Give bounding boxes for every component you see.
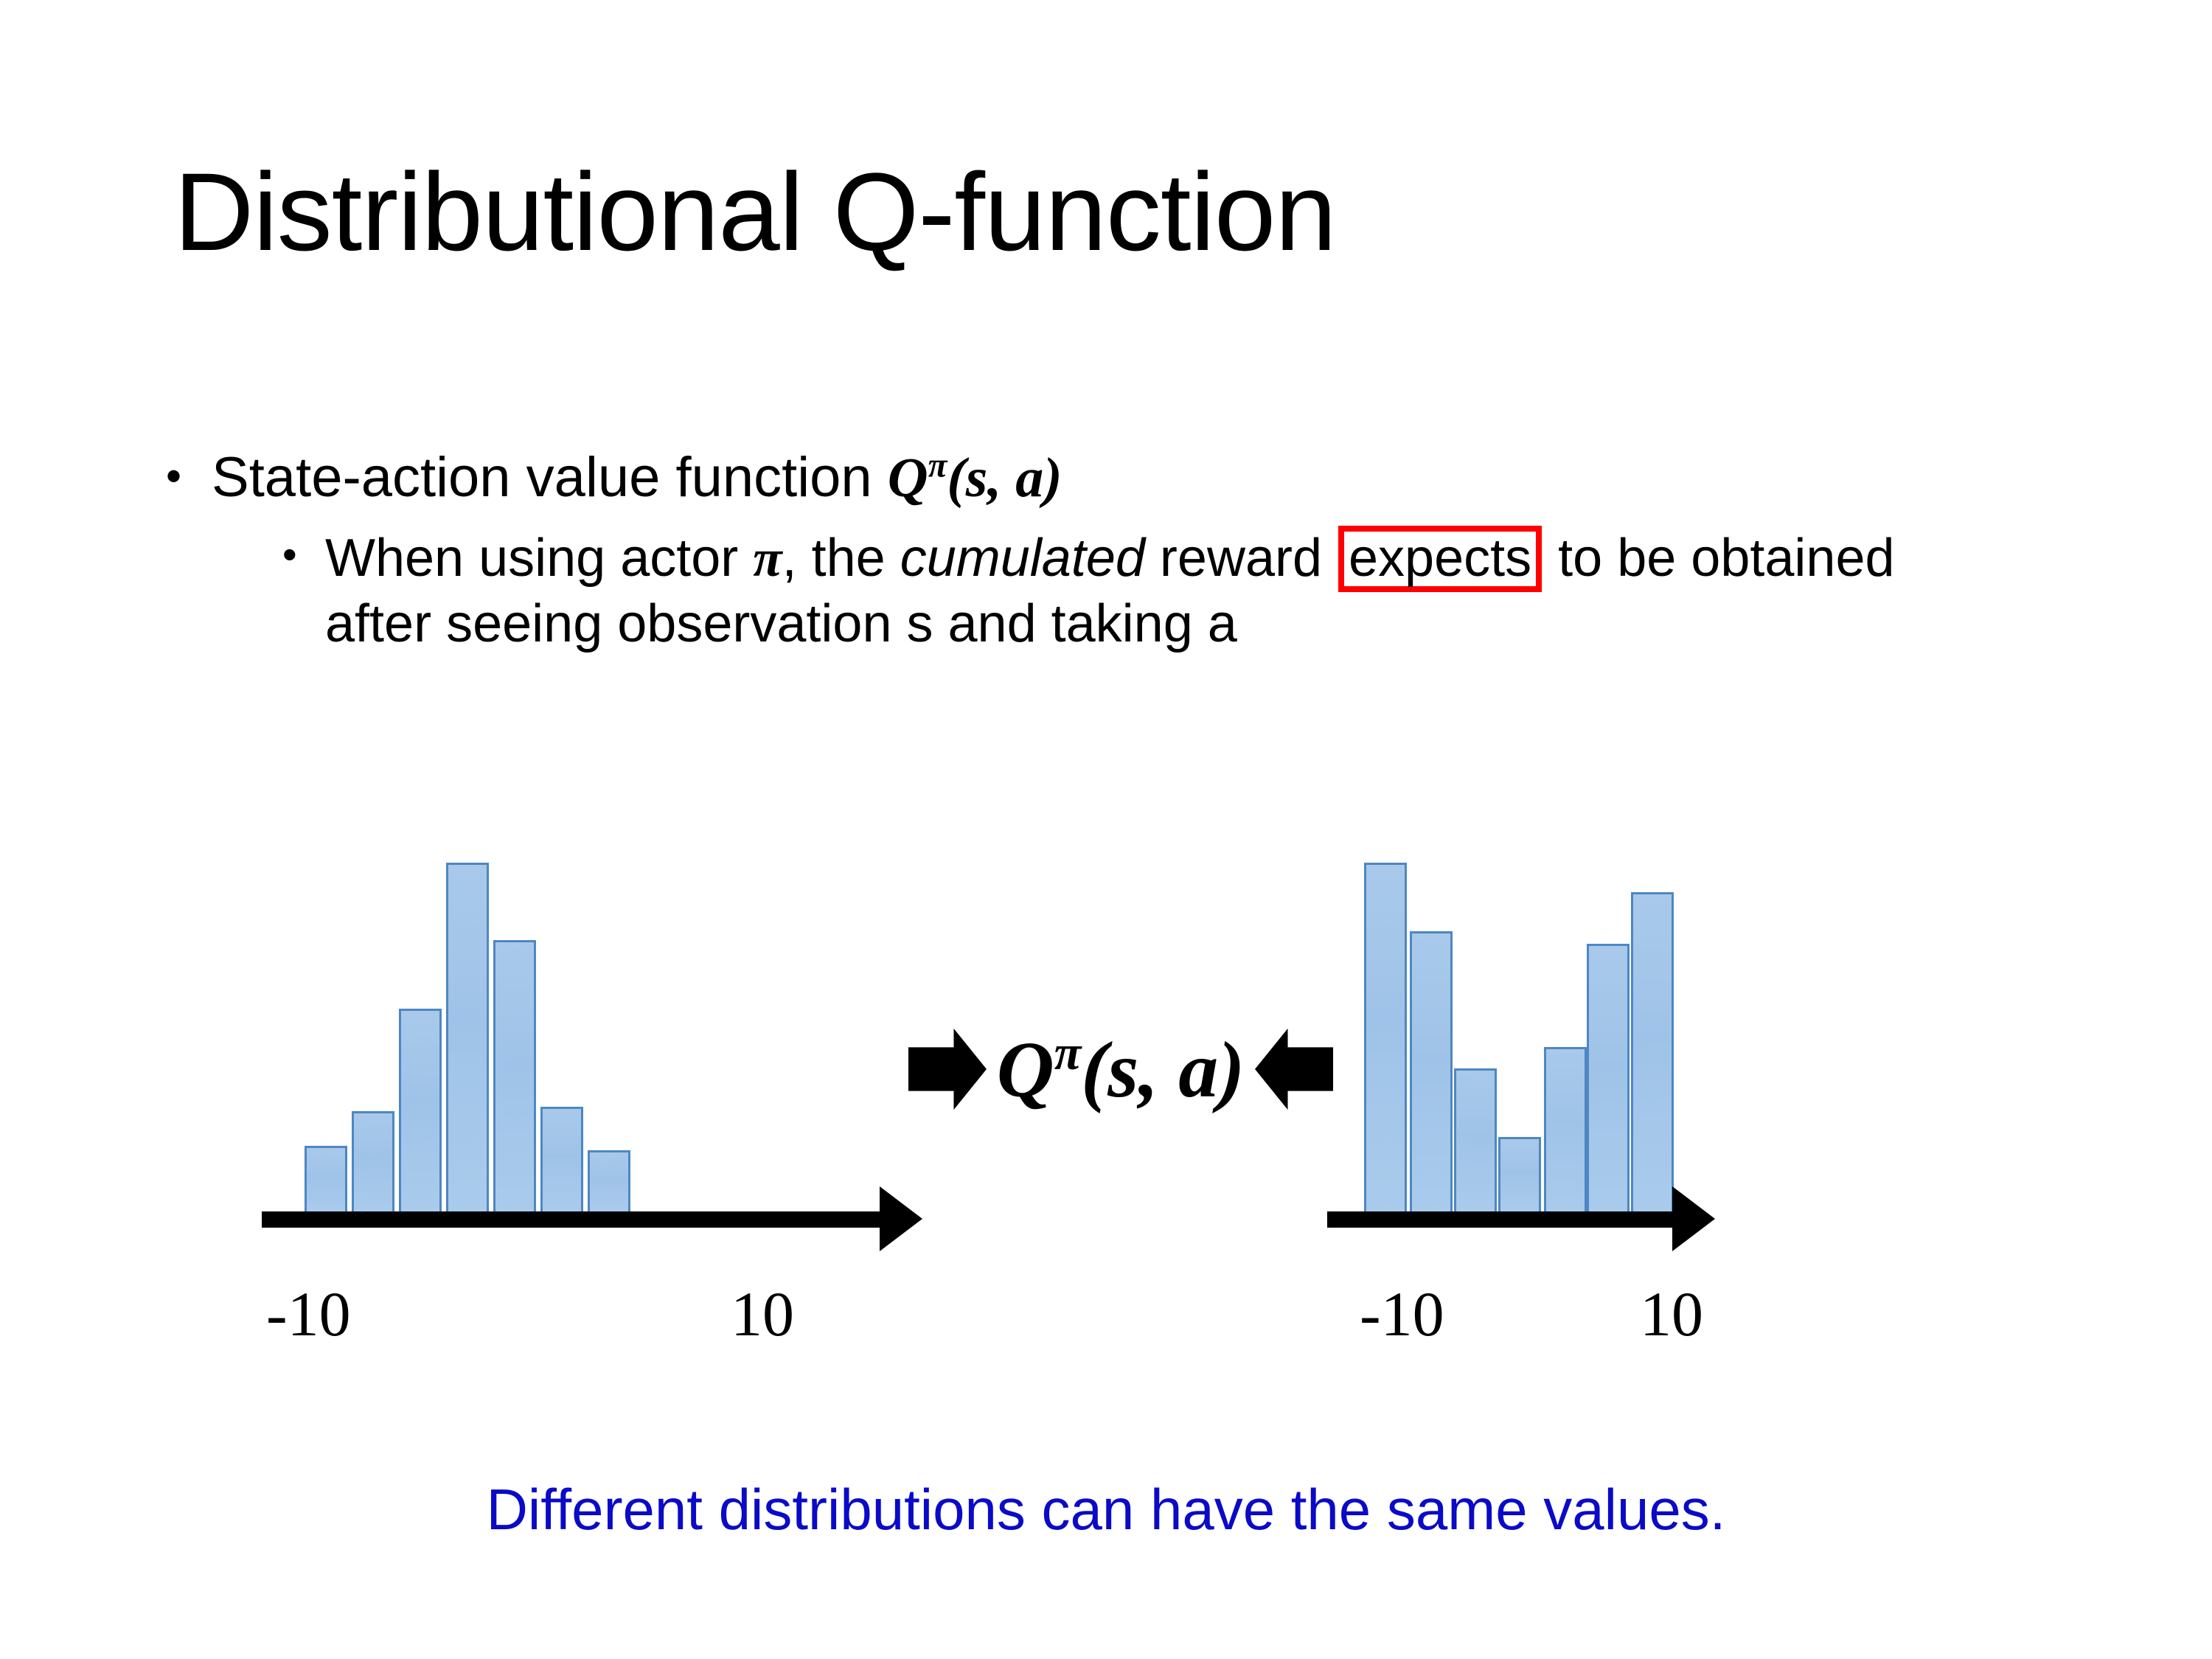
bullet-level1-label: State-action value function [212, 446, 888, 509]
right-chart-axis [1327, 1211, 1672, 1228]
left-distribution-chart: -10 10 [262, 785, 925, 1257]
bullet-level2-text: When using actor π, the cumulated reward… [325, 526, 1992, 655]
equivalence-group: Qπ(s, a) [870, 1003, 1371, 1135]
arrow-left-icon [1255, 1025, 1333, 1113]
right-chart-bars [1327, 785, 1991, 1214]
axis-arrow-right-icon [880, 1186, 922, 1251]
bar [1544, 1047, 1587, 1214]
bar [446, 863, 489, 1214]
bar [588, 1150, 630, 1214]
bullet-level2: • When using actor π, the cumulated rewa… [282, 526, 2024, 655]
caption-text: Different distributions can have the sam… [0, 1481, 2212, 1538]
bullet-level1: • State-action value function Qπ(s, a) [166, 446, 2024, 509]
center-formula-superscript-pi: π [1054, 1026, 1082, 1080]
center-q-function-formula: Qπ(s, a) [997, 1029, 1245, 1110]
arrow-right-icon [908, 1025, 987, 1113]
bullet-level2-part2: , the [782, 529, 900, 588]
bar [399, 1009, 442, 1214]
bar [493, 940, 536, 1214]
pi-symbol: π [753, 529, 782, 588]
bar [305, 1146, 347, 1214]
q-function-formula: Qπ(s, a) [888, 447, 1062, 509]
right-chart-tick-max: 10 [1640, 1282, 1703, 1346]
formula-base: Q [888, 447, 928, 509]
right-chart-tick-min: -10 [1360, 1282, 1444, 1346]
bullet-level1-text: State-action value function Qπ(s, a) [212, 446, 1062, 509]
left-chart-axis [262, 1211, 880, 1228]
center-formula-arguments: (s, a) [1081, 1026, 1245, 1114]
bar [1631, 892, 1674, 1214]
axis-arrow-right-icon [1672, 1186, 1715, 1251]
bullet-level2-part3: reward [1145, 529, 1337, 588]
left-chart-bars [262, 785, 925, 1214]
bar [1587, 944, 1630, 1214]
formula-arguments: (s, a) [947, 447, 1062, 509]
bar [540, 1107, 583, 1214]
left-chart-tick-min: -10 [266, 1282, 351, 1346]
bar [1454, 1068, 1497, 1214]
emphasis-cumulated: cumulated [900, 529, 1145, 588]
center-formula-base: Q [997, 1026, 1054, 1114]
formula-superscript-pi: π [928, 447, 947, 485]
bullet-level2-container: • When using actor π, the cumulated rewa… [282, 526, 2024, 655]
bar [1498, 1137, 1541, 1214]
left-chart-tick-max: 10 [731, 1282, 794, 1346]
body-content: • State-action value function Qπ(s, a) •… [166, 446, 2024, 656]
bullet-marker-icon: • [282, 526, 325, 582]
bar [1364, 863, 1407, 1214]
bar [352, 1111, 394, 1214]
bullet-marker-icon: • [166, 446, 212, 506]
page-title: Distributional Q-function [174, 156, 1336, 267]
highlighted-word-expects: expects [1338, 526, 1542, 592]
bullet-level2-part1: When using actor [325, 529, 753, 588]
bar [1410, 931, 1453, 1214]
right-distribution-chart: -10 10 [1327, 785, 1991, 1257]
